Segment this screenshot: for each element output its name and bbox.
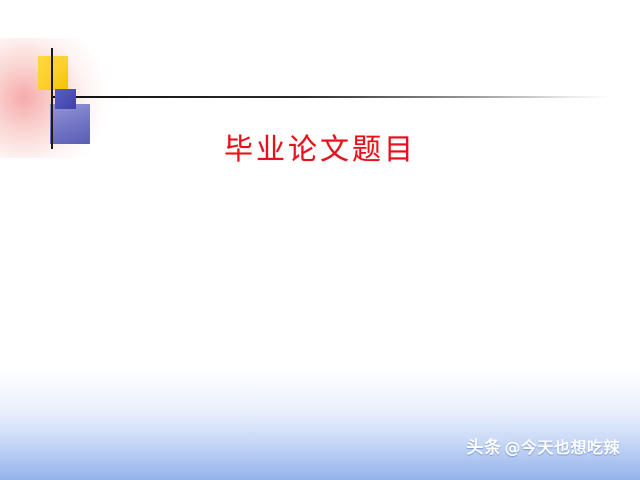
watermark-brand: 头条	[466, 433, 501, 458]
presentation-slide: 毕业论文题目 头条 @今天也想吃辣	[0, 0, 640, 480]
watermark: 头条 @今天也想吃辣	[466, 433, 620, 458]
vertical-rule-decoration	[51, 48, 53, 149]
horizontal-rule-decoration	[52, 96, 612, 98]
slide-title: 毕业论文题目	[0, 126, 640, 168]
blue-square-small-decoration	[55, 89, 76, 109]
yellow-square-decoration	[38, 56, 68, 90]
bottom-gradient-band	[0, 368, 640, 480]
watermark-handle: @今天也想吃辣	[504, 434, 620, 458]
